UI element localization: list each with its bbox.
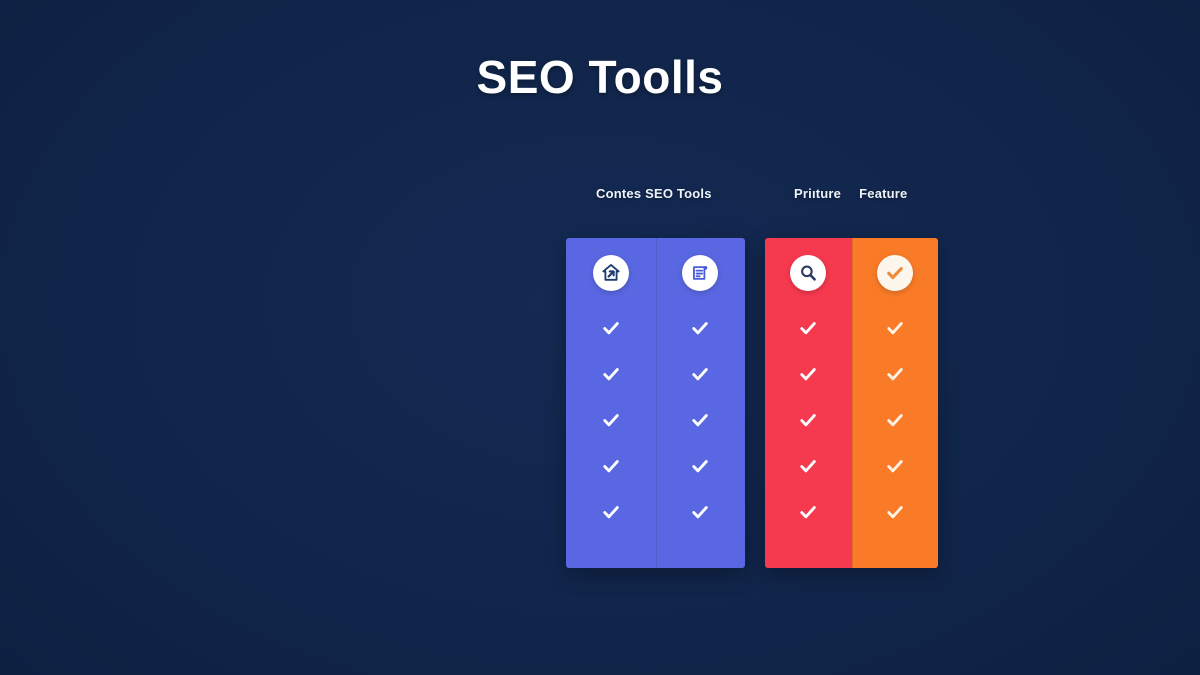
column-home-arrow[interactable] — [566, 238, 656, 568]
check-icon — [885, 364, 905, 384]
check-icon — [601, 318, 621, 338]
home-arrow-icon[interactable] — [593, 255, 629, 291]
check-list — [798, 318, 818, 522]
check-circle-icon[interactable] — [877, 255, 913, 291]
column-header-label: Priıture — [794, 186, 841, 201]
check-icon — [601, 364, 621, 384]
column-search[interactable] — [765, 238, 852, 568]
group-priiture-feature: Priıture Feature — [765, 186, 938, 222]
panel-row-left — [566, 238, 745, 568]
check-icon — [798, 364, 818, 384]
column-header-label: Contes SEO Tools — [596, 186, 712, 201]
page-title: SEO Toolls — [0, 52, 1200, 103]
check-list — [885, 318, 905, 522]
column-verified[interactable] — [852, 238, 939, 568]
check-icon — [690, 318, 710, 338]
check-icon — [798, 502, 818, 522]
check-icon — [885, 318, 905, 338]
check-list — [690, 318, 710, 522]
check-icon — [885, 502, 905, 522]
check-icon — [798, 456, 818, 476]
check-list — [601, 318, 621, 522]
check-icon — [798, 410, 818, 430]
check-icon — [690, 456, 710, 476]
check-icon — [885, 456, 905, 476]
check-icon — [690, 502, 710, 522]
check-icon — [601, 456, 621, 476]
check-icon — [690, 364, 710, 384]
check-icon — [601, 410, 621, 430]
check-icon — [601, 502, 621, 522]
group-contes-seo-tools: Contes SEO Tools — [566, 186, 745, 222]
check-icon — [690, 410, 710, 430]
search-icon[interactable] — [790, 255, 826, 291]
panel-row-right — [765, 238, 938, 568]
check-icon — [885, 410, 905, 430]
comparison-board: Contes SEO Tools — [566, 186, 946, 576]
group-header-right: Priıture Feature — [765, 186, 938, 222]
column-header-label: Feature — [859, 186, 907, 201]
check-icon — [798, 318, 818, 338]
group-header-left: Contes SEO Tools — [566, 186, 745, 222]
column-document-list[interactable] — [656, 238, 746, 568]
document-list-icon[interactable] — [682, 255, 718, 291]
